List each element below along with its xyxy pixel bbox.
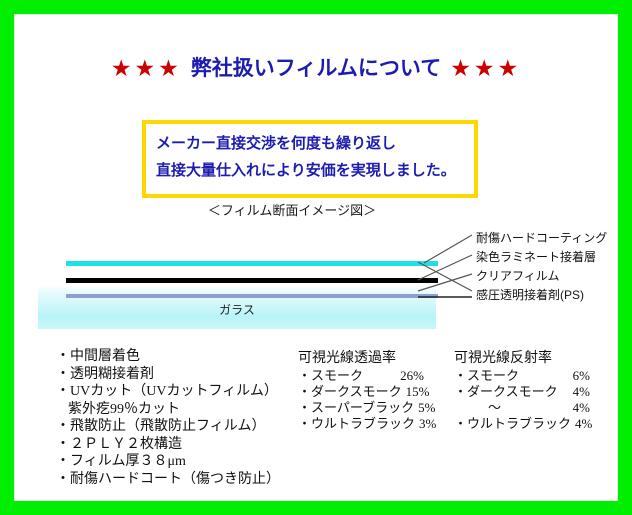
diagram-caption: ＜フィルム断面イメージ図＞ (14, 200, 570, 219)
page-title: ★★★弊社扱いフィルムについて★★★ (14, 52, 618, 82)
reflectance-name-ultra-black: ・ウルトラブラック (454, 416, 571, 432)
layer-label-laminate-adhesive: 染色ラミネート接着層 (476, 248, 607, 267)
table-row: ・ダークスモーク 15% (298, 384, 424, 400)
transmittance-value-dark-smoke: 15% (402, 384, 430, 400)
layer-label-clear-film: クリアフィルム (476, 267, 607, 286)
glass-layer-block (38, 285, 436, 329)
table-row: 〜 4% (454, 400, 590, 416)
reflectance-name-tilde: 〜 (488, 400, 501, 416)
reflectance-value-smoke: 6% (569, 368, 590, 384)
list-item: ・透明糊接着剤 (56, 366, 280, 384)
list-item: ・２ＰＬＹ２枚構造 (56, 436, 280, 454)
list-item: ・UVカット（UVカットフィルム） (56, 383, 280, 401)
statement-line-2: 直接大量仕入れにより安価を実現しました。 (156, 158, 464, 185)
layer-hard-coating (66, 261, 438, 266)
table-row: ・スーパーブラック 5% (298, 400, 424, 416)
reflectance-value-ultra-black: 4% (571, 416, 592, 432)
transmittance-name-super-black: ・スーパーブラック (298, 400, 414, 416)
list-item: ・飛散防止（飛散防止フィルム） (56, 418, 280, 436)
transmittance-value-super-black: 5% (414, 400, 435, 416)
layer-label-list: 耐傷ハードコーティング 染色ラミネート接着層 クリアフィルム 感圧透明接着剤(P… (476, 229, 607, 305)
transmittance-table: 可視光線透過率 ・スモーク 26% ・ダークスモーク 15% ・スーパーブラック… (298, 350, 424, 432)
layer-laminate-adhesive (66, 278, 438, 283)
table-row: ・スモーク 26% (298, 368, 424, 384)
page-root: ★★★弊社扱いフィルムについて★★★ メーカー直接交渉を何度も繰り返し 直接大量… (0, 0, 632, 515)
list-item: ・耐傷ハードコート（傷つき防止） (56, 471, 280, 489)
transmittance-name-dark-smoke: ・ダークスモーク (298, 384, 402, 400)
reflectance-table: 可視光線反射率 ・スモーク 6% ・ダークスモーク 4% 〜 4% ・ウルトラブ… (454, 350, 590, 432)
layer-clear-film (66, 294, 438, 298)
reflectance-value-dark-smoke: 4% (569, 384, 590, 400)
content-panel: ★★★弊社扱いフィルムについて★★★ メーカー直接交渉を何度も繰り返し 直接大量… (14, 14, 618, 501)
title-stars-right-icon: ★★★ (450, 56, 521, 81)
layer-label-ps-adhesive: 感圧透明接着剤(PS) (476, 286, 607, 305)
reflectance-value-tilde: 4% (569, 400, 590, 416)
list-item: ・フィルム厚３８μm (56, 453, 280, 471)
transmittance-name-smoke: ・スモーク (298, 368, 363, 384)
transmittance-value-ultra-black: 3% (415, 416, 436, 432)
transmittance-value-smoke: 26% (396, 368, 424, 384)
title-stars-left-icon: ★★★ (111, 56, 182, 81)
page-title-text: 弊社扱いフィルムについて (191, 56, 442, 80)
layer-label-hard-coating: 耐傷ハードコーティング (476, 229, 607, 248)
statement-line-1: メーカー直接交渉を何度も繰り返し (156, 131, 464, 158)
table-row: ・ウルトラブラック 3% (298, 416, 424, 432)
list-item: ・中間層着色 (56, 348, 280, 366)
reflectance-name-dark-smoke: ・ダークスモーク (454, 384, 558, 400)
glass-layer-label: ガラス (38, 301, 436, 318)
list-item: 紫外疙99％カット (56, 401, 280, 419)
feature-list: ・中間層着色 ・透明糊接着剤 ・UVカット（UVカットフィルム） 紫外疙99％カ… (56, 348, 280, 488)
table-row: ・ダークスモーク 4% (454, 384, 590, 400)
reflectance-heading: 可視光線反射率 (454, 350, 590, 367)
table-row: ・スモーク 6% (454, 368, 590, 384)
transmittance-name-ultra-black: ・ウルトラブラック (298, 416, 415, 432)
statement-box: メーカー直接交渉を何度も繰り返し 直接大量仕入れにより安価を実現しました。 (142, 120, 478, 198)
transmittance-heading: 可視光線透過率 (298, 350, 424, 367)
reflectance-name-smoke: ・スモーク (454, 368, 519, 384)
table-row: ・ウルトラブラック 4% (454, 416, 590, 432)
